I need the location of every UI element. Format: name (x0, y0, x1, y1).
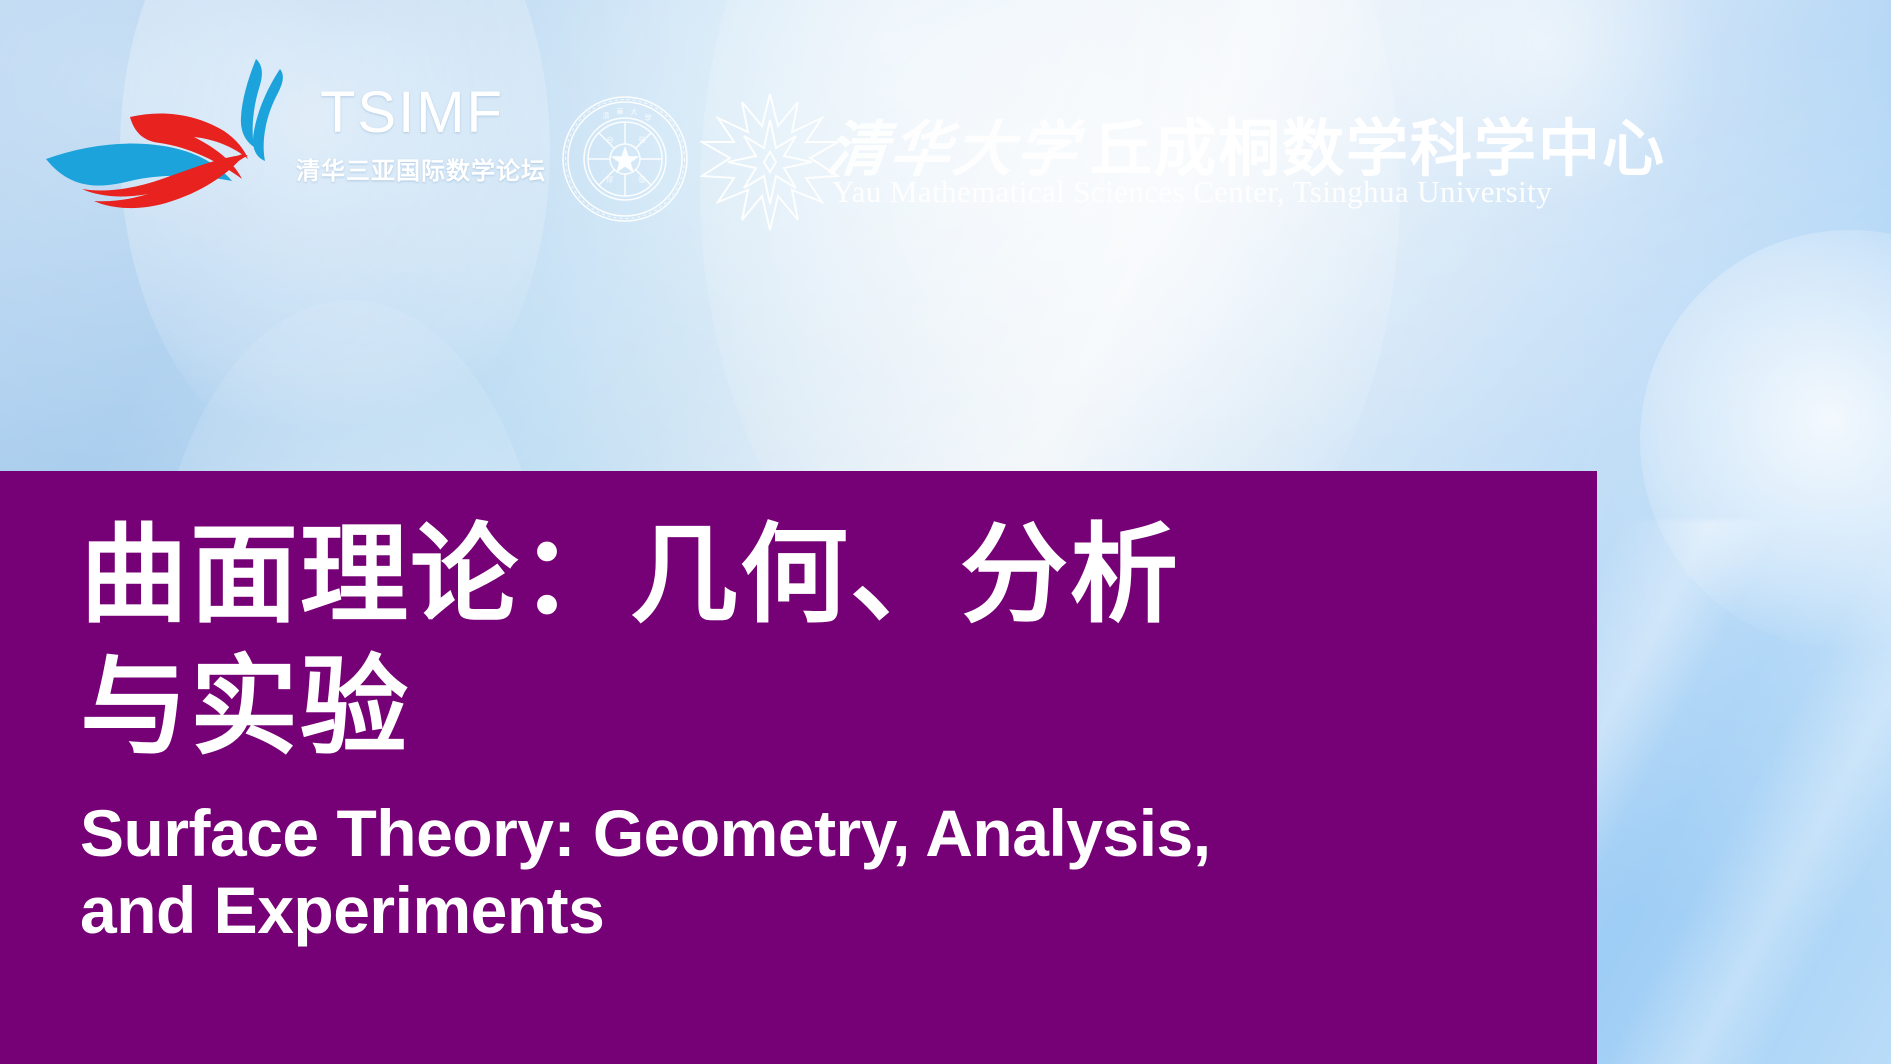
ymsc-logo-group: 清 華 大 學 自 強 厚 德 (560, 92, 1520, 227)
title-panel: 曲面理论：几何、分析 与实验 Surface Theory: Geometry,… (0, 471, 1597, 1064)
page-title-english: Surface Theory: Geometry, Analysis, and … (80, 773, 1557, 951)
ymsc-star-emblem-icon (700, 92, 840, 232)
header-logo-row: TSIMF 清华三亚国际数学论坛 (0, 0, 1891, 471)
svg-text:學: 學 (645, 113, 652, 122)
svg-text:華: 華 (617, 107, 624, 116)
tsinghua-seal-icon: 清 華 大 學 自 強 厚 德 (560, 94, 690, 224)
svg-text:強: 強 (639, 136, 646, 144)
svg-text:清: 清 (603, 111, 610, 120)
svg-text:大: 大 (631, 107, 638, 116)
svg-text:德: 德 (639, 175, 646, 184)
ymsc-english-name: Yau Mathematical Sciences Center, Tsingh… (832, 174, 1552, 210)
tsimf-logo: TSIMF 清华三亚国际数学论坛 (42, 55, 482, 215)
svg-text:自: 自 (607, 135, 614, 144)
page-title-chinese: 曲面理论：几何、分析 与实验 (80, 471, 1557, 773)
title-text-block: 曲面理论：几何、分析 与实验 Surface Theory: Geometry,… (80, 471, 1557, 950)
svg-text:厚: 厚 (607, 176, 614, 184)
tsimf-bird-icon (42, 55, 332, 210)
tsimf-wordmark: TSIMF (320, 79, 504, 146)
presentation-slide: TSIMF 清华三亚国际数学论坛 (0, 0, 1891, 1064)
tsimf-chinese-name: 清华三亚国际数学论坛 (296, 151, 546, 186)
